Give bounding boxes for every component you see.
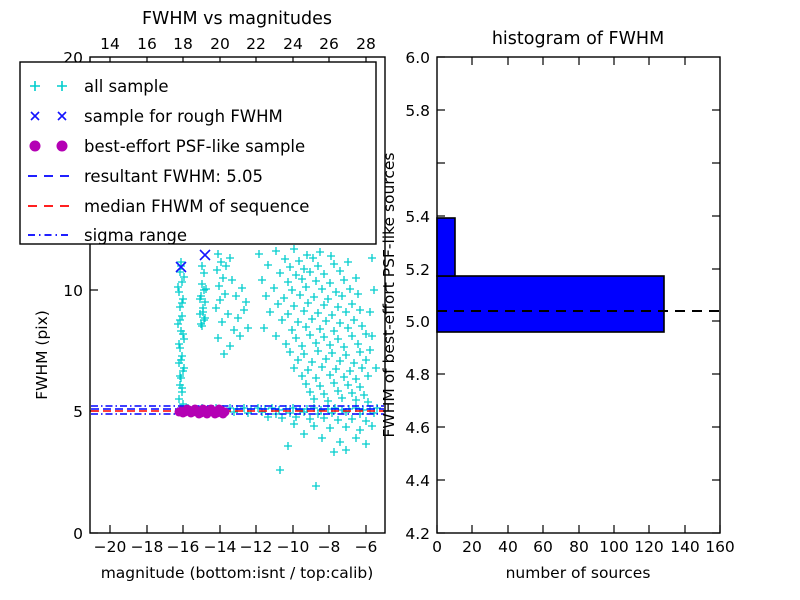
- legend-label: all sample: [84, 77, 169, 96]
- right-y-axis-title: FWHM of best-effort PSF-like sources: [380, 152, 398, 437]
- left-bottom-tick-label: −10: [277, 538, 310, 556]
- left-top-tick-label: 22: [246, 35, 266, 53]
- right-x-tick-label: 140: [670, 538, 700, 556]
- right-y-tick-labels: 4.2 4.4 4.6 4.8 5.0 5.2 5.4 5.8 6.0: [405, 49, 430, 543]
- right-x-tick-label: 0: [432, 538, 442, 556]
- right-x-tick-label: 60: [533, 538, 553, 556]
- right-x-tick-label: 160: [705, 538, 735, 556]
- legend-label: sigma range: [84, 226, 187, 245]
- legend-label: median FHWM of sequence: [84, 197, 309, 216]
- left-top-tick-label: 28: [356, 35, 376, 53]
- right-y-tick-label: 4.8: [405, 366, 430, 384]
- left-top-tick-label: 24: [283, 35, 303, 53]
- right-y-tick-label: 5.2: [405, 261, 430, 279]
- right-panel: histogram of FWHM 0 20 40 60 80: [380, 29, 735, 582]
- left-bottom-tick-label: −18: [131, 538, 164, 556]
- right-x-tick-label: 80: [569, 538, 589, 556]
- left-top-tick-label: 20: [210, 35, 230, 53]
- left-y-tick-label: 10: [63, 282, 83, 300]
- histogram-bar[interactable]: [437, 276, 664, 332]
- right-panel-title: histogram of FWHM: [492, 29, 664, 49]
- right-y-tick-label: 4.2: [405, 525, 430, 543]
- left-bottom-ticks: [110, 525, 366, 533]
- left-bottom-tick-labels: −20 −18 −16 −14 −12 −10 −8 −6: [94, 538, 378, 556]
- left-y-tick-label: 0: [73, 525, 83, 543]
- left-scatter-data: [91, 245, 384, 490]
- legend-label: best-effort PSF-like sample: [84, 137, 305, 156]
- histogram-bar[interactable]: [437, 218, 455, 276]
- left-y-axis-title: FWHM (pix): [33, 310, 51, 400]
- all-sample-points: [174, 245, 381, 490]
- right-x-tick-label: 40: [498, 538, 518, 556]
- left-top-tick-label: 14: [100, 35, 120, 53]
- right-top-ticks: [472, 57, 685, 65]
- left-top-tick-labels: 14 16 18 20 22 24 26 28: [100, 35, 376, 53]
- right-y-tick-label: 5.4: [405, 208, 430, 226]
- right-bottom-tick-labels: 0 20 40 60 80 100 120 140 160: [432, 538, 735, 556]
- right-bottom-ticks: [437, 525, 720, 533]
- histogram-bars: [437, 218, 664, 332]
- left-top-tick-label: 26: [319, 35, 339, 53]
- right-y-tick-label: 5.8: [405, 102, 430, 120]
- right-x-tick-label: 100: [599, 538, 629, 556]
- left-top-tick-label: 16: [137, 35, 157, 53]
- left-bottom-tick-label: −6: [355, 538, 378, 556]
- right-x-tick-label: 20: [462, 538, 482, 556]
- legend-label: sample for rough FWHM: [84, 107, 283, 126]
- left-bottom-tick-label: −16: [167, 538, 200, 556]
- right-x-axis-title: number of sources: [506, 564, 651, 582]
- left-panel: FWHM vs magnitudes 14 16 18 20 22: [20, 9, 385, 582]
- left-panel-title: FWHM vs magnitudes: [142, 9, 332, 29]
- left-top-tick-label: 18: [173, 35, 193, 53]
- figure-canvas: FWHM vs magnitudes 14 16 18 20 22: [0, 0, 800, 600]
- left-bottom-tick-label: −8: [318, 538, 341, 556]
- left-bottom-tick-label: −12: [240, 538, 273, 556]
- right-y-tick-label: 4.4: [405, 472, 430, 490]
- left-x-axis-title: magnitude (bottom:isnt / top:calib): [101, 564, 374, 582]
- right-y-tick-label: 4.6: [405, 419, 430, 437]
- right-y-tick-label: 6.0: [405, 49, 430, 67]
- left-bottom-tick-label: −14: [204, 538, 237, 556]
- matplotlib-figure: FWHM vs magnitudes 14 16 18 20 22: [0, 0, 800, 600]
- legend-label: resultant FWHM: 5.05: [84, 167, 263, 186]
- left-bottom-tick-label: −20: [94, 538, 127, 556]
- right-x-tick-label: 120: [634, 538, 664, 556]
- left-panel-legend: all sample sample for rough FWHM: [20, 62, 376, 245]
- right-y-tick-label: 5.0: [405, 313, 430, 331]
- left-y-tick-label: 5: [73, 403, 83, 421]
